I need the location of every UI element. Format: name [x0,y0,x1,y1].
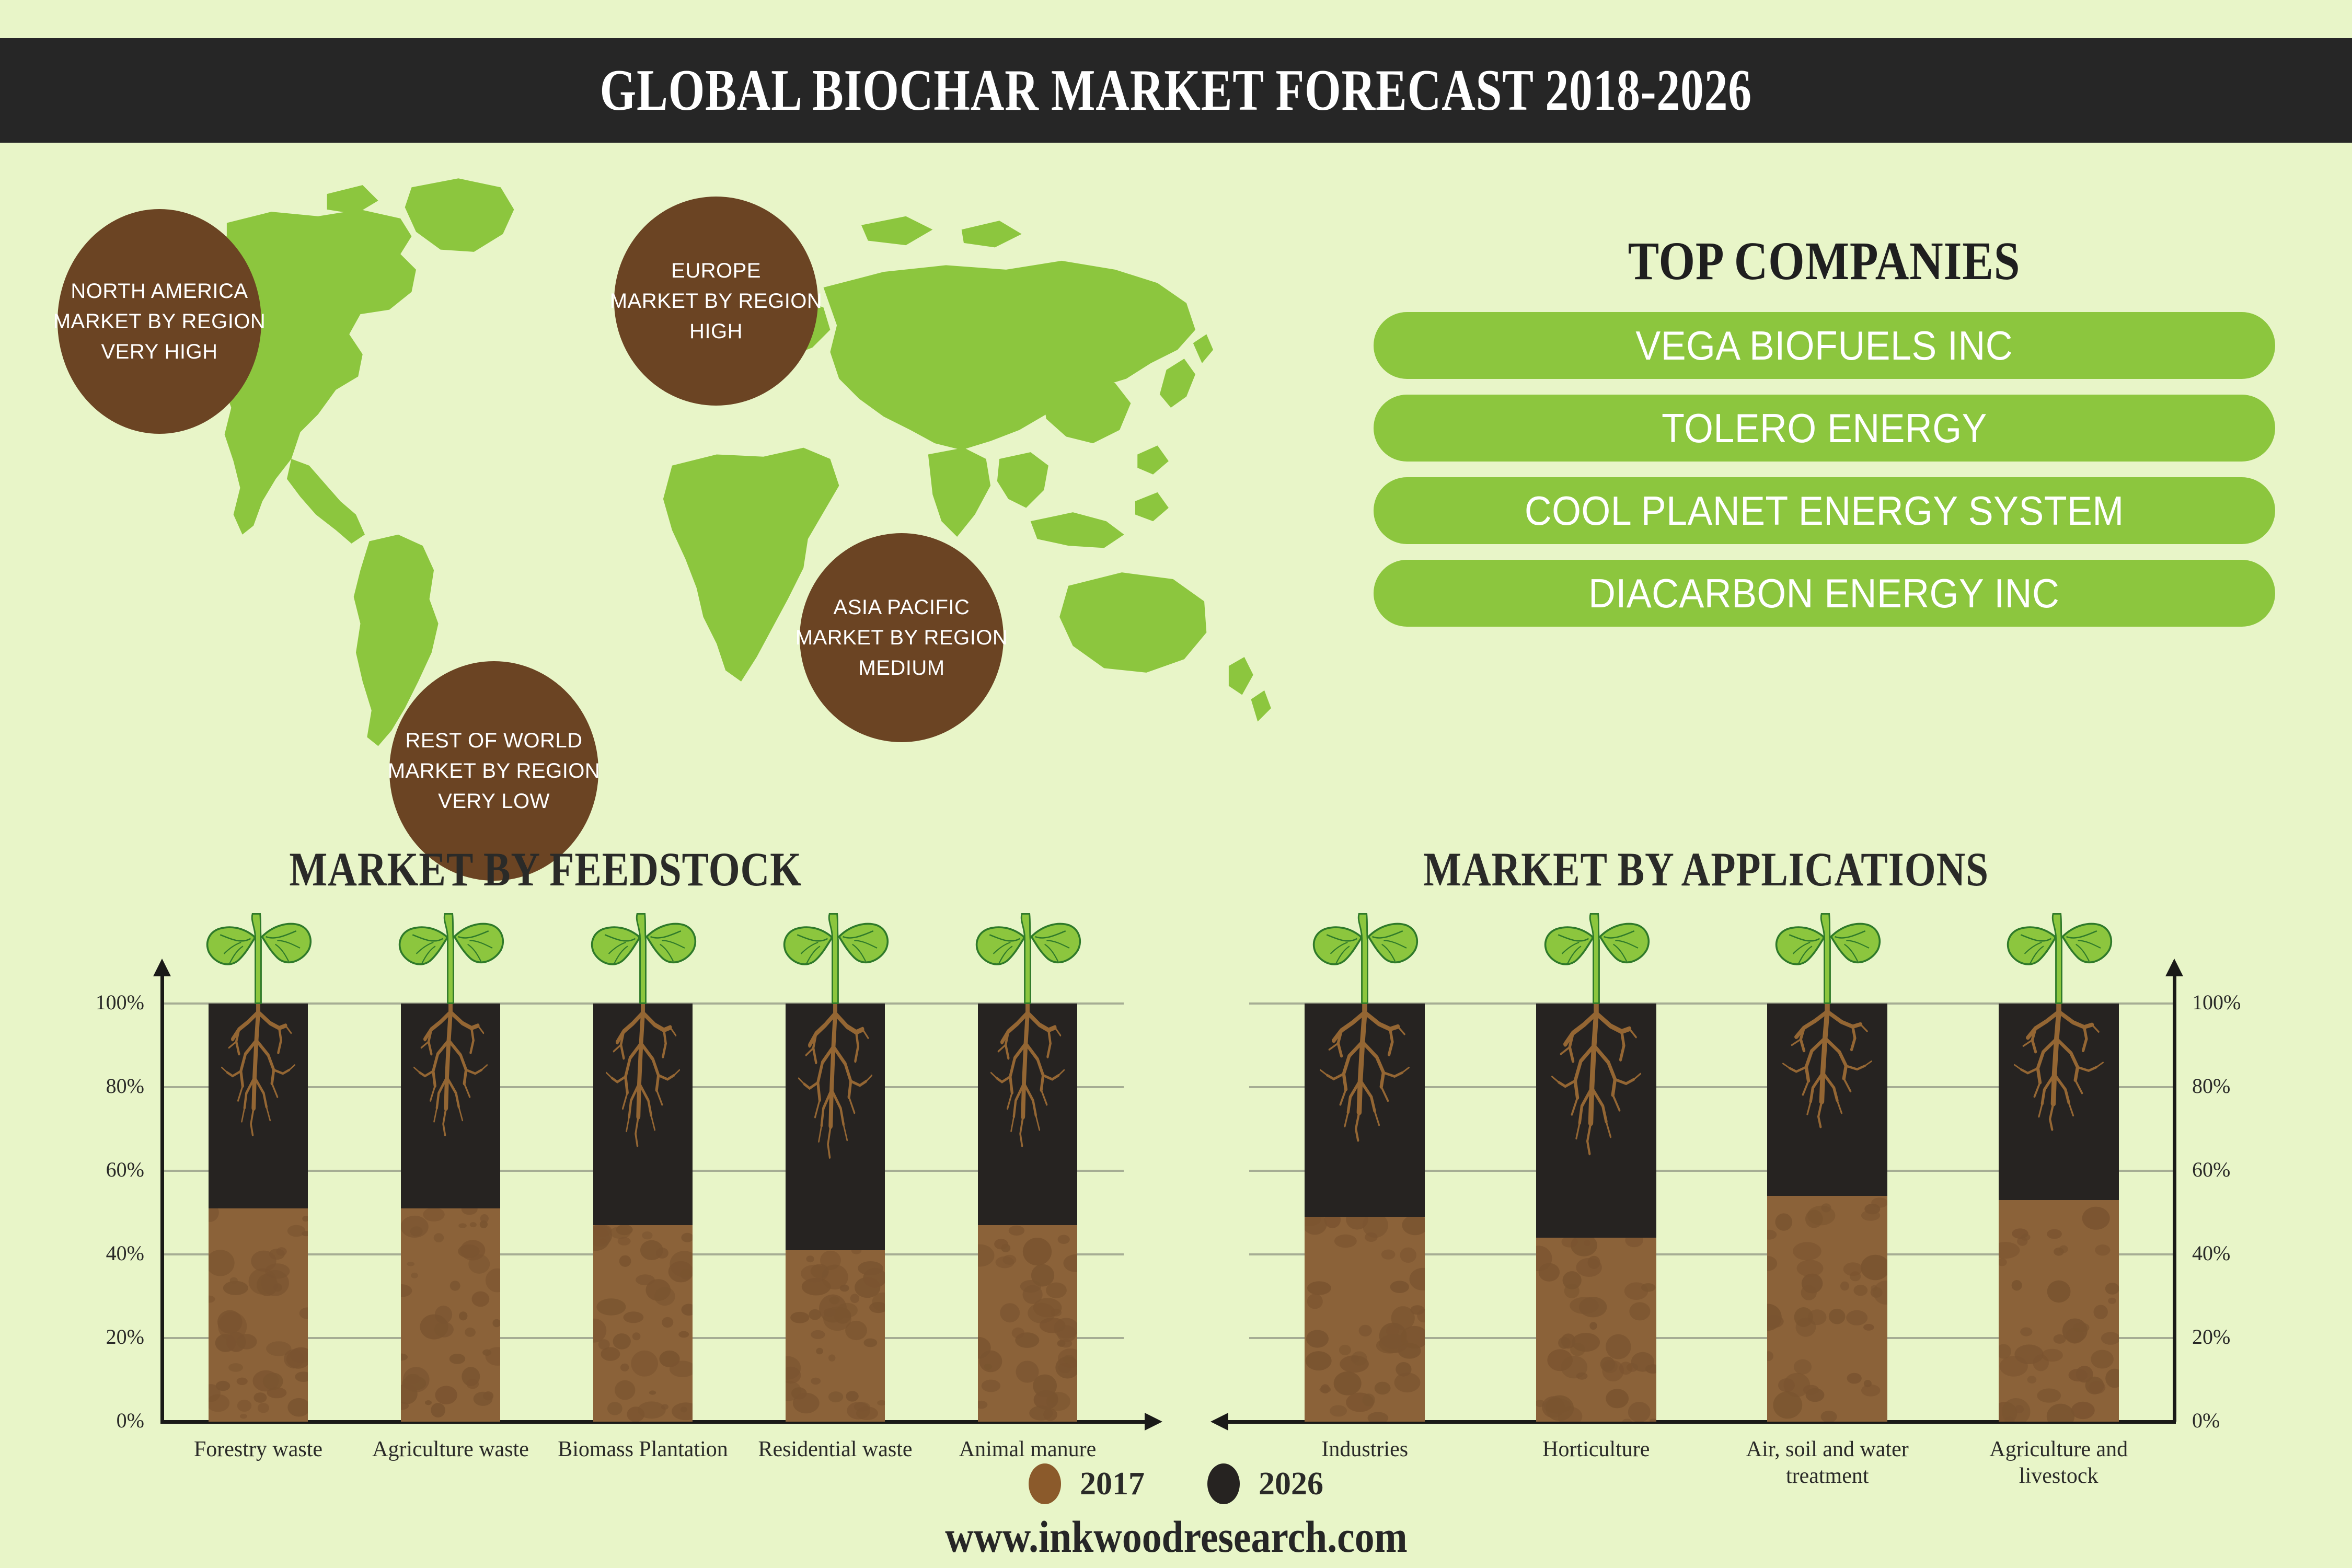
soil-texture [1536,1238,1656,1422]
legend-swatch-2017 [1029,1463,1061,1504]
region-name: ASIA PACIFIC [834,592,970,622]
y-axis-tick-label: 20% [78,1324,144,1349]
soil-texture [593,1225,693,1422]
root-system-icon [982,1004,1074,1163]
top-companies-heading: TOP COMPANIES [1420,230,2229,292]
region-level: VERY HIGH [101,337,217,367]
y-axis-tick-label: 60% [2192,1157,2307,1182]
bar-segment-2017[interactable] [209,1208,308,1422]
bar-category-label: Industries [1321,1436,1408,1463]
bar-group[interactable]: Horticulture [1536,1004,1656,1422]
soil-texture [1999,1200,2119,1422]
bar-group[interactable]: Biomass Plantation [593,1004,693,1422]
bar-category-label: Forestry waste [194,1436,322,1463]
region-level: HIGH [689,316,743,347]
bar-segment-2026[interactable] [1767,1004,1887,1196]
region-bubble-north-america[interactable]: NORTH AMERICA MARKET BY REGION VERY HIGH [57,209,261,434]
bar-segment-2026[interactable] [1305,1004,1425,1217]
soil-texture [209,1208,308,1422]
seedling-icon [1536,901,1656,1008]
plot-area-feedstock: 0%20%40%60%80%100%Forestry wasteAgricult… [78,962,1176,1453]
bar-category-label: Animal manure [959,1436,1096,1463]
region-bubble-asia-pacific[interactable]: ASIA PACIFIC MARKET BY REGION MEDIUM [800,533,1004,742]
company-name: COOL PLANET ENERGY SYSTEM [1525,487,2124,535]
y-axis-tick-label: 80% [78,1074,144,1098]
legend-item-2026: 2026 [1207,1463,1323,1504]
bar-segment-2017[interactable] [401,1208,500,1422]
soil-texture [786,1250,885,1422]
region-subtitle: MARKET BY REGION [53,306,266,337]
bar-segment-2017[interactable] [1999,1200,2119,1422]
bar-segment-2017[interactable] [1305,1217,1425,1422]
header-bar: GLOBAL BIOCHAR MARKET FORECAST 2018-2026 [0,38,2352,143]
company-pill-tolero-energy[interactable]: TOLERO ENERGY [1374,395,2275,462]
y-axis-tick-label: 0% [78,1408,144,1433]
seedling-icon [967,901,1088,1008]
y-axis-tick-label: 60% [78,1157,144,1182]
bar-group[interactable]: Residential waste [786,1004,885,1422]
bar-segment-2026[interactable] [786,1004,885,1250]
bar-segment-2017[interactable] [593,1225,693,1422]
y-axis-line [160,973,164,1422]
bar-group[interactable]: Agriculture waste [401,1004,500,1422]
root-system-icon [2003,1004,2114,1145]
bar-category-label: Horticulture [1542,1436,1650,1463]
bar-category-label: Agriculture waste [372,1436,529,1463]
company-pill-vega-biofuels[interactable]: VEGA BIOFUELS INC [1374,312,2275,379]
legend-label: 2026 [1259,1466,1323,1503]
soil-texture [401,1208,500,1422]
y-axis-tick-label: 80% [2192,1074,2307,1098]
company-name: VEGA BIOFUELS INC [1635,322,2013,370]
top-companies-panel: TOP COMPANIES VEGA BIOFUELS INC TOLERO E… [1354,230,2295,642]
y-axis-tick-label: 40% [78,1241,144,1265]
soil-texture [1767,1196,1887,1422]
chart-title-applications: MARKET BY APPLICATIONS [1423,841,1989,897]
y-axis-tick-label: 100% [2192,990,2307,1014]
root-system-icon [1772,1004,1883,1142]
footer: www.inkwoodresearch.com [0,1511,2352,1563]
page-title: GLOBAL BIOCHAR MARKET FORECAST 2018-2026 [600,57,1752,124]
seedling-icon [583,901,703,1008]
region-subtitle: MARKET BY REGION [388,756,601,786]
region-level: VERY LOW [438,786,550,816]
seedling-icon [1999,901,2119,1008]
bar-segment-2026[interactable] [401,1004,500,1208]
bar-segment-2026[interactable] [1536,1004,1656,1238]
company-pill-cool-planet-energy-system[interactable]: COOL PLANET ENERGY SYSTEM [1374,477,2275,544]
y-axis-line [2173,973,2176,1422]
bar-category-label: Residential waste [758,1436,912,1463]
company-name: TOLERO ENERGY [1662,405,1987,452]
soil-texture [1305,1217,1425,1422]
chart-legend: 2017 2026 [0,1463,2352,1504]
company-name: DIACARBON ENERGY INC [1588,570,2059,617]
x-axis-arrow [1145,1413,1162,1431]
y-axis-tick-label: 20% [2192,1324,2307,1349]
company-pill-diacarbon-energy[interactable]: DIACARBON ENERGY INC [1374,560,2275,627]
bar-group[interactable]: Industries [1305,1004,1425,1422]
root-system-icon [1309,1004,1420,1157]
region-name: EUROPE [671,256,761,286]
root-system-icon [213,1004,304,1151]
world-map-section: NORTH AMERICA MARKET BY REGION VERY HIGH… [0,146,1338,794]
soil-texture [978,1225,1077,1422]
website-url[interactable]: www.inkwoodresearch.com [945,1511,1407,1563]
region-subtitle: MARKET BY REGION [610,286,823,316]
y-axis-arrow [153,959,171,976]
root-system-icon [1541,1004,1652,1172]
seedling-icon [390,901,511,1008]
root-system-icon [597,1004,689,1163]
bar-segment-2026[interactable] [209,1004,308,1208]
bar-segment-2017[interactable] [1767,1196,1887,1422]
region-name: NORTH AMERICA [71,276,248,306]
y-axis-arrow [2165,959,2183,976]
legend-label: 2017 [1080,1466,1145,1503]
bar-group[interactable]: Agriculture and livestock [1999,1004,2119,1422]
region-level: MEDIUM [858,653,944,683]
chart-title-feedstock: MARKET BY FEEDSTOCK [289,841,802,897]
region-subtitle: MARKET BY REGION [795,622,1008,653]
root-system-icon [405,1004,497,1151]
bar-group[interactable]: Animal manure [978,1004,1077,1422]
bar-group[interactable]: Air, soil and water treatment [1767,1004,1887,1422]
legend-swatch-2026 [1207,1463,1240,1504]
bar-segment-2017[interactable] [786,1250,885,1422]
bar-segment-2026[interactable] [1999,1004,2119,1200]
plot-area-applications: 0%20%40%60%80%100%IndustriesHorticulture… [1218,962,2295,1453]
y-axis-tick-label: 40% [2192,1241,2307,1265]
bar-category-label: Biomass Plantation [558,1436,728,1463]
seedling-icon [775,901,895,1008]
region-name: REST OF WORLD [405,725,582,756]
bar-segment-2026[interactable] [978,1004,1077,1225]
bar-segment-2017[interactable] [978,1225,1077,1422]
root-system-icon [790,1004,881,1176]
x-axis-arrow [1210,1413,1228,1431]
bar-group[interactable]: Forestry waste [209,1004,308,1422]
region-bubble-europe[interactable]: EUROPE MARKET BY REGION HIGH [614,197,818,406]
y-axis-tick-label: 100% [78,990,144,1014]
bar-segment-2026[interactable] [593,1004,693,1225]
seedling-icon [1305,901,1425,1008]
bar-segment-2017[interactable] [1536,1238,1656,1422]
seedling-icon [198,901,318,1008]
chart-feedstock: 0%20%40%60%80%100%Forestry wasteAgricult… [78,962,1176,1453]
legend-item-2017: 2017 [1029,1463,1145,1504]
seedling-icon [1767,901,1887,1008]
y-axis-tick-label: 0% [2192,1408,2307,1433]
chart-applications: 0%20%40%60%80%100%IndustriesHorticulture… [1218,962,2295,1453]
